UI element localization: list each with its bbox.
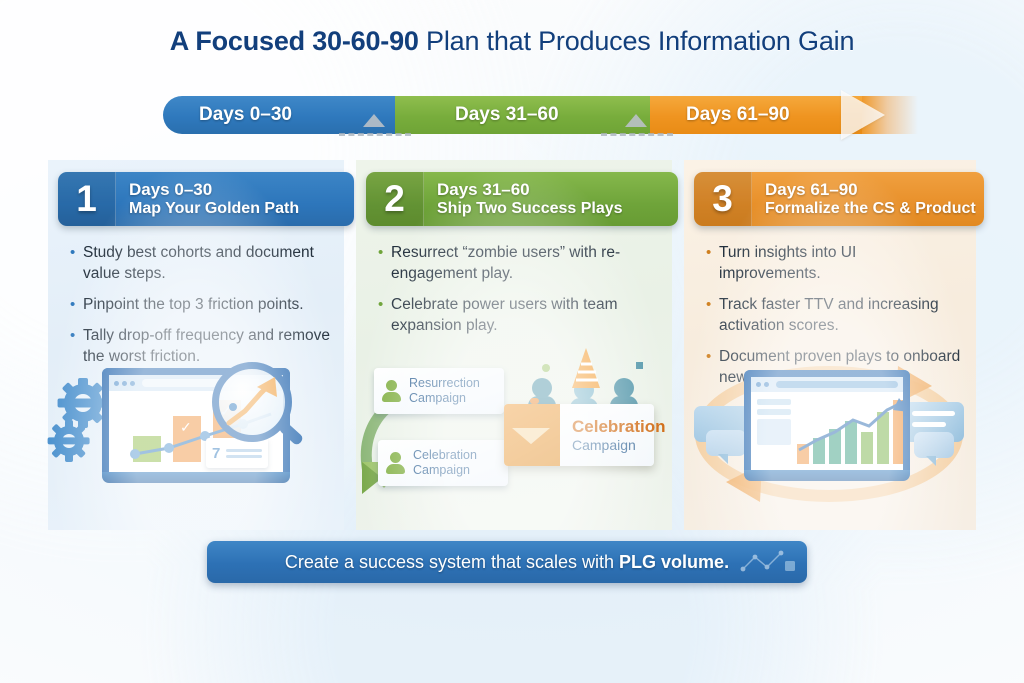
person-head-icon [614,378,634,398]
envelope-line-2: Campaign [572,437,666,454]
timeline-chevron-icon-1 [363,114,385,127]
resurrection-campaign-card[interactable]: Resurrection Campaign [374,368,504,414]
party-hat-icon [564,348,610,392]
window-dot-icon [764,382,769,387]
celebration-envelope-card[interactable]: Celebration Campaign [504,404,654,466]
metric-lines-icon [226,449,262,458]
card-3-bullet-2: • Track faster TTV and increasing activa… [706,294,962,336]
window-dot-icon [756,382,761,387]
card-1-days: Days 0–30 [129,180,299,199]
network-decoration-icon [737,547,797,577]
card-3-days: Days 61–90 [765,180,976,199]
growth-arrow-icon [223,373,283,433]
bubble-line [912,411,955,416]
resurrection-campaign-text: Resurrection Campaign [409,376,480,406]
confetti-icon [542,364,550,372]
metric-card: 7 [206,438,268,468]
card-2-bullet-1: • Resurrect “zombie users” with re-engag… [378,242,658,284]
card-1-header: 1 Days 0–30 Map Your Golden Path [58,172,354,226]
card-2-illustration: Resurrection Campaign Celebration Campai… [356,352,672,522]
speech-bubble-icon-right-2 [914,432,954,458]
card-3: 3 Days 61–90 Formalize the CS & Product … [684,160,976,530]
gear-icon-small [54,426,84,456]
footer-text: Create a success system that scales with… [285,551,729,573]
celebration-line-2: Campaign [413,463,470,477]
bullet-dot-icon: • [378,294,391,336]
person-head-icon [532,378,552,398]
footer-text-bold: PLG volume. [619,552,729,572]
timeline-segment-3-label: Days 61–90 [686,104,790,126]
card-1-bullet-1-text: Study best cohorts and document value st… [83,242,330,284]
timeline-segment-3[interactable]: Days 61–90 [650,96,862,134]
bubble-line [912,422,946,427]
card-2-bullets: • Resurrect “zombie users” with re-engag… [378,242,658,346]
card-2-header-text: Days 31–60 Ship Two Success Plays [424,180,623,218]
footer-text-lead: Create a success system that scales with [285,552,619,572]
footer-banner: Create a success system that scales with… [207,541,807,583]
metric-value: 7 [212,445,220,462]
card-1-bullet-2: • Pinpoint the top 3 friction points. [70,294,330,315]
celebration-campaign-text: Celebration Campaign [413,448,477,478]
bullet-dot-icon: • [70,242,83,284]
confetti-icon [636,362,643,369]
card-3-header-text: Days 61–90 Formalize the CS & Product [752,180,976,218]
envelope-line-1: Celebration [572,417,666,437]
card-2: 2 Days 31–60 Ship Two Success Plays • Re… [356,160,672,530]
card-2-bullet-2-text: Celebrate power users with team expansio… [391,294,658,336]
envelope-icon [504,404,560,466]
card-2-number: 2 [366,172,424,226]
card-1-bullet-1: • Study best cohorts and document value … [70,242,330,284]
page-title-bold: A Focused 30-60-90 [170,26,419,56]
card-1-illustration: ✓ ✓ 7 [48,352,344,522]
card-3-bullet-2-text: Track faster TTV and increasing activati… [719,294,962,336]
page-title-rest: Plan that Produces Information Gain [419,26,855,56]
card-2-bullet-2: • Celebrate power users with team expans… [378,294,658,336]
bar-chart [795,398,897,464]
card-3-bullet-1-text: Turn insights into UI improvements. [719,242,962,284]
card-1-number: 1 [58,172,116,226]
window-dot-icon [114,381,119,386]
card-2-heading: Ship Two Success Plays [437,199,623,218]
laptop-base [744,470,910,481]
timeline-segment-2-label: Days 31–60 [455,104,559,126]
address-bar[interactable] [776,381,898,388]
bullet-dot-icon: • [378,242,391,284]
card-3-number: 3 [694,172,752,226]
window-dot-icon [130,381,135,386]
laptop-screen [744,370,910,470]
laptop-base [102,472,290,483]
celebration-campaign-card[interactable]: Celebration Campaign [378,440,508,486]
timeline: Days 0–30 Days 31–60 Days 61–90 [163,96,883,134]
bullet-dot-icon: • [706,294,719,336]
cards-container: 1 Days 0–30 Map Your Golden Path • Study… [48,160,976,530]
card-2-days: Days 31–60 [437,180,623,199]
speech-bubble-icon-left-2 [706,430,746,456]
timeline-segment-1-label: Days 0–30 [199,104,292,126]
card-1: 1 Days 0–30 Map Your Golden Path • Study… [48,160,344,530]
gear-icon-large [64,384,102,422]
timeline-chevron-icon-2 [625,114,647,127]
sidebar-placeholder [757,399,791,445]
bullet-dot-icon: • [706,242,719,284]
card-1-header-text: Days 0–30 Map Your Golden Path [116,180,299,218]
celebration-line-1: Celebration [413,448,477,462]
browser-chrome [751,377,903,392]
laptop-illustration [744,370,910,481]
page-title: A Focused 30-60-90 Plan that Produces In… [0,26,1024,57]
card-3-illustration [684,352,976,522]
card-1-bullet-2-text: Pinpoint the top 3 friction points. [83,294,330,315]
resurrection-line-2: Campaign [409,391,466,405]
card-3-header: 3 Days 61–90 Formalize the CS & Product [694,172,984,226]
user-icon [382,379,402,403]
trend-line [795,398,910,464]
celebration-envelope-text: Celebration Campaign [560,417,666,454]
magnifier-icon [212,362,292,442]
user-icon [386,451,406,475]
bullet-dot-icon: • [70,294,83,315]
window-dot-icon [122,381,127,386]
card-2-header: 2 Days 31–60 Ship Two Success Plays [366,172,678,226]
timeline-arrow-icon [841,90,885,140]
card-2-bullet-1-text: Resurrect “zombie users” with re-engagem… [391,242,658,284]
card-1-heading: Map Your Golden Path [129,199,299,218]
card-3-bullet-1: • Turn insights into UI improvements. [706,242,962,284]
resurrection-line-1: Resurrection [409,376,480,390]
card-3-heading: Formalize the CS & Product [765,199,976,218]
